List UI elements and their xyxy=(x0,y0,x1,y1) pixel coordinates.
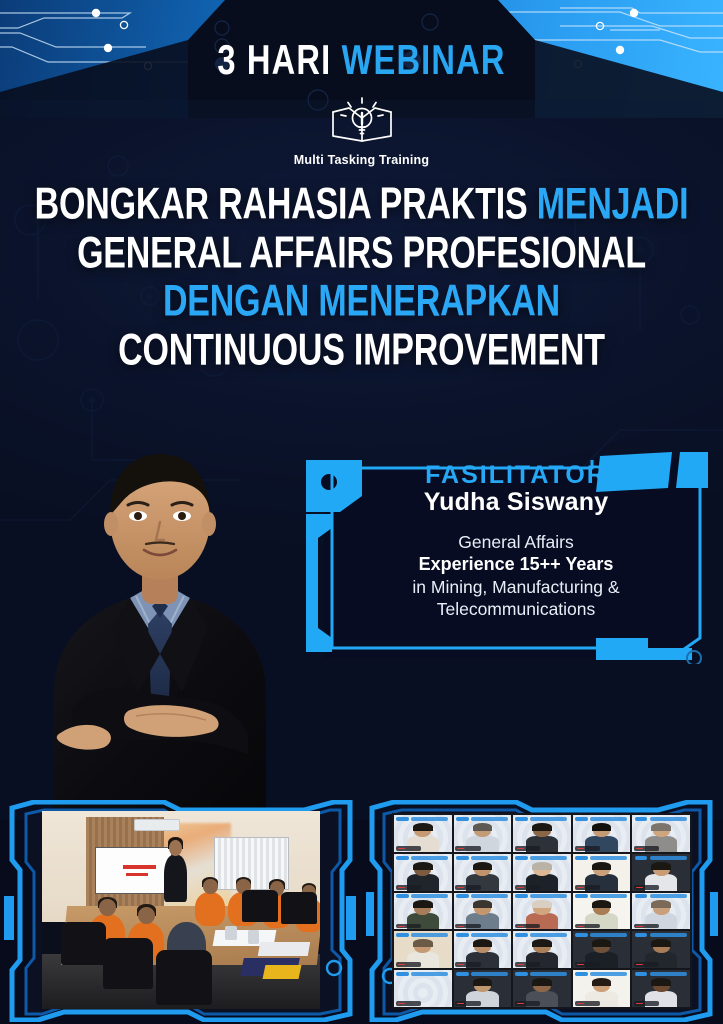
participant-tile xyxy=(573,970,631,1007)
classroom-photo-panel xyxy=(4,800,356,1022)
participant-tile xyxy=(632,970,690,1007)
facilitator-detail-line-1: General Affairs xyxy=(340,531,692,553)
webinar-title: 3 HARI WEBINAR xyxy=(14,40,708,81)
participant-tile xyxy=(513,815,571,852)
headline-line-4: CONTINUOUS IMPROVEMENT xyxy=(0,328,723,373)
participant-tile xyxy=(454,970,512,1007)
participant-tile xyxy=(632,815,690,852)
presenter-photo xyxy=(10,392,310,812)
facilitator-detail-line-4: Telecommunications xyxy=(340,598,692,620)
main-headline: BONGKAR RAHASIA PRAKTIS MENJADI GENERAL … xyxy=(0,182,723,377)
facilitator-label: FASILITATOR xyxy=(340,462,692,488)
headline-line-1-blue: MENJADI xyxy=(537,179,689,228)
participant-grid xyxy=(392,813,692,1009)
headline-line-3: DENGAN MENERAPKAN xyxy=(0,279,723,324)
webinar-poster: 3 HARI WEBINAR xyxy=(0,0,723,1024)
participant-tile xyxy=(573,931,631,968)
participant-tile xyxy=(394,893,452,930)
participant-tile xyxy=(454,931,512,968)
participant-tile xyxy=(454,893,512,930)
facilitator-details: General Affairs Experience 15++ Years in… xyxy=(340,531,692,621)
facilitator-panel: FASILITATOR Yudha Siswany General Affair… xyxy=(296,452,708,664)
participant-tile xyxy=(513,970,571,1007)
participant-tile xyxy=(513,931,571,968)
webinar-title-word: WEBINAR xyxy=(342,38,506,84)
brand-logo xyxy=(0,96,723,146)
presenter-illustration xyxy=(10,392,310,812)
participant-tile xyxy=(394,970,452,1007)
facilitator-detail-line-2: Experience 15++ Years xyxy=(340,553,692,576)
participant-tile xyxy=(573,854,631,891)
participant-tile xyxy=(573,893,631,930)
headline-line-2: GENERAL AFFAIRS PROFESIONAL xyxy=(0,231,723,276)
facilitator-detail-line-3: in Mining, Manufacturing & xyxy=(340,576,692,598)
brand-name: Multi Tasking Training xyxy=(0,153,723,167)
participant-tile xyxy=(394,931,452,968)
participant-tile xyxy=(513,893,571,930)
poster-header: 3 HARI WEBINAR xyxy=(0,0,723,167)
webinar-grid-image xyxy=(392,813,692,1009)
headline-line-1-white: BONGKAR RAHASIA PRAKTIS xyxy=(35,179,528,228)
classroom-photo-image xyxy=(42,811,320,1009)
facilitator-text-block: FASILITATOR Yudha Siswany General Affair… xyxy=(340,462,692,620)
participant-tile xyxy=(632,893,690,930)
participant-tile xyxy=(394,815,452,852)
participant-tile xyxy=(632,931,690,968)
participant-tile xyxy=(454,815,512,852)
webinar-grid-photo-panel xyxy=(366,800,718,1022)
participant-tile xyxy=(394,854,452,891)
open-book-lightbulb-icon xyxy=(329,96,395,146)
participant-tile xyxy=(513,854,571,891)
participant-tile xyxy=(632,854,690,891)
webinar-title-days: 3 HARI xyxy=(217,38,331,84)
participant-tile xyxy=(573,815,631,852)
participant-tile xyxy=(454,854,512,891)
headline-line-1: BONGKAR RAHASIA PRAKTIS MENJADI xyxy=(0,182,723,227)
facilitator-name: Yudha Siswany xyxy=(340,489,692,517)
